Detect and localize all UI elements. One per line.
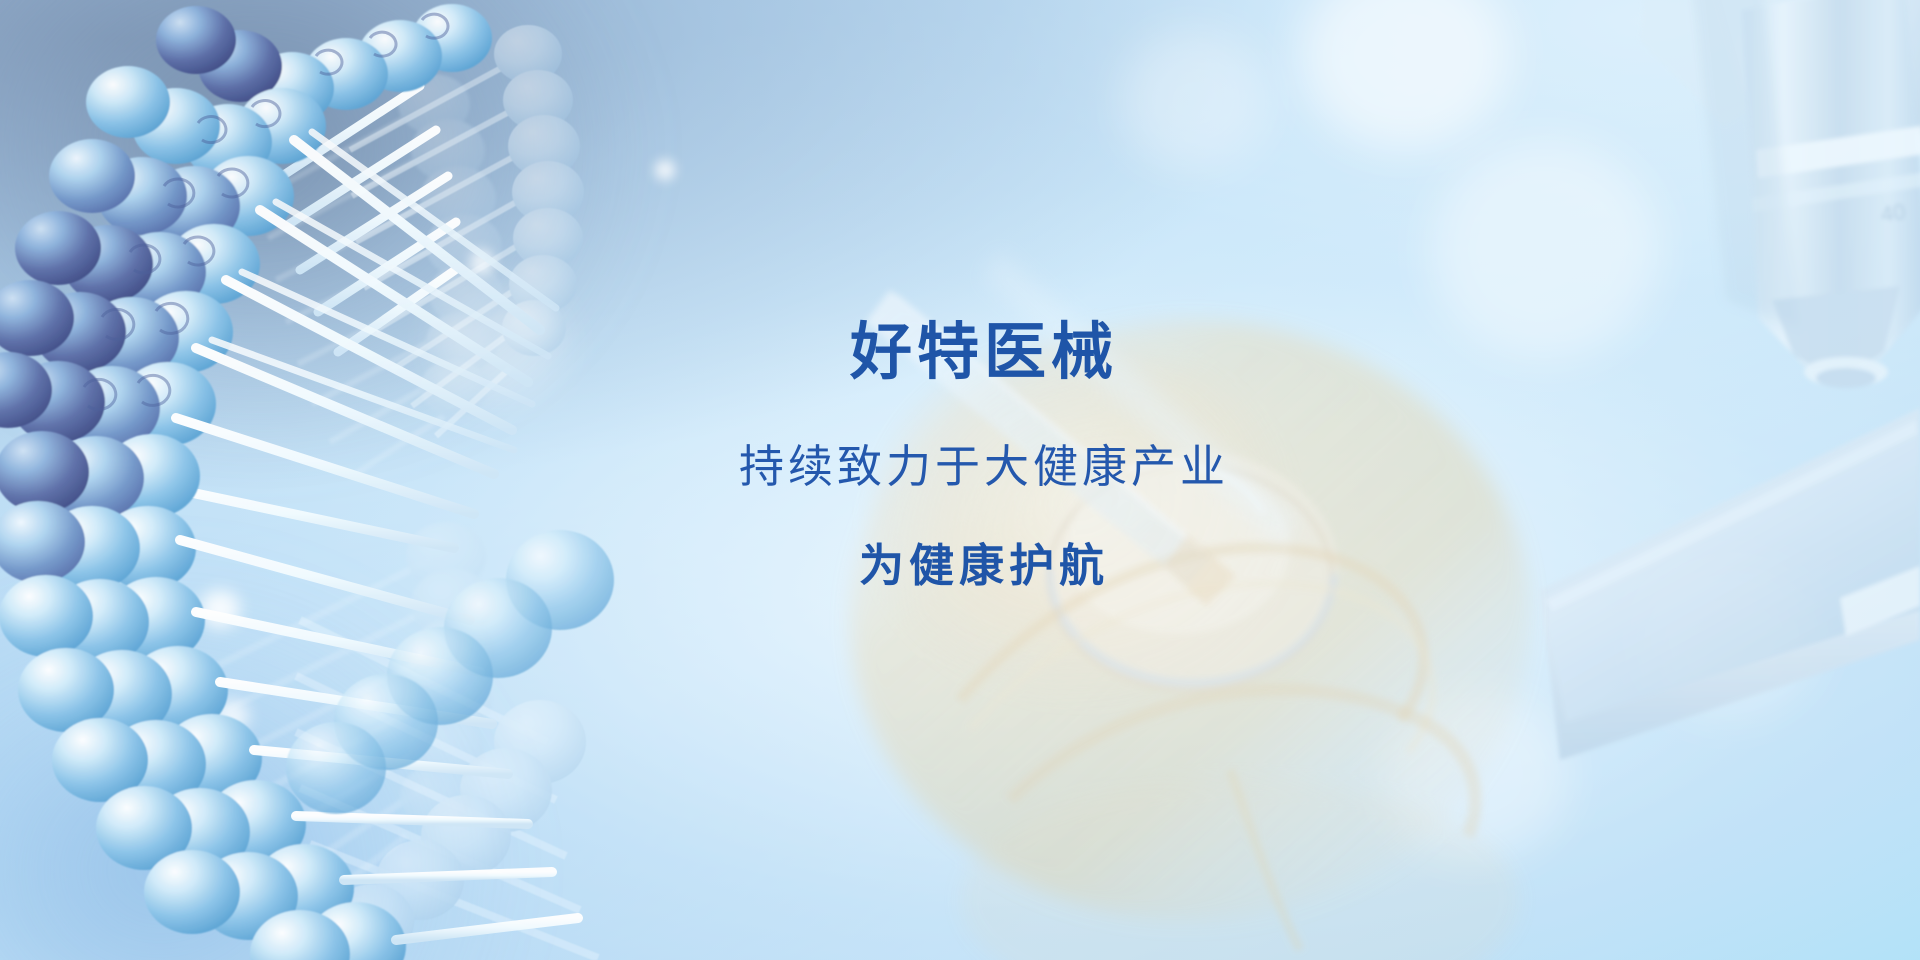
hero-text-block: 好特医械 持续致力于大健康产业 为健康护航 [0, 322, 1920, 588]
bokeh-light-4 [1120, 30, 1270, 170]
background-vignette-bottom-left [0, 560, 520, 960]
page-title: 好特医械 [0, 322, 1920, 384]
hero-subtitle: 持续致力于大健康产业 [0, 444, 1920, 489]
svg-text:40: 40 [1879, 199, 1907, 227]
bokeh-light-10 [470, 250, 494, 274]
bokeh-light-11 [655, 160, 675, 180]
bokeh-light-3 [1380, 690, 1570, 860]
bokeh-light-9 [215, 700, 249, 732]
hero-tagline: 为健康护航 [0, 543, 1920, 588]
hero-banner: 40 [0, 0, 1920, 960]
bokeh-light-8 [200, 590, 240, 628]
bokeh-light-1 [1300, 0, 1510, 150]
